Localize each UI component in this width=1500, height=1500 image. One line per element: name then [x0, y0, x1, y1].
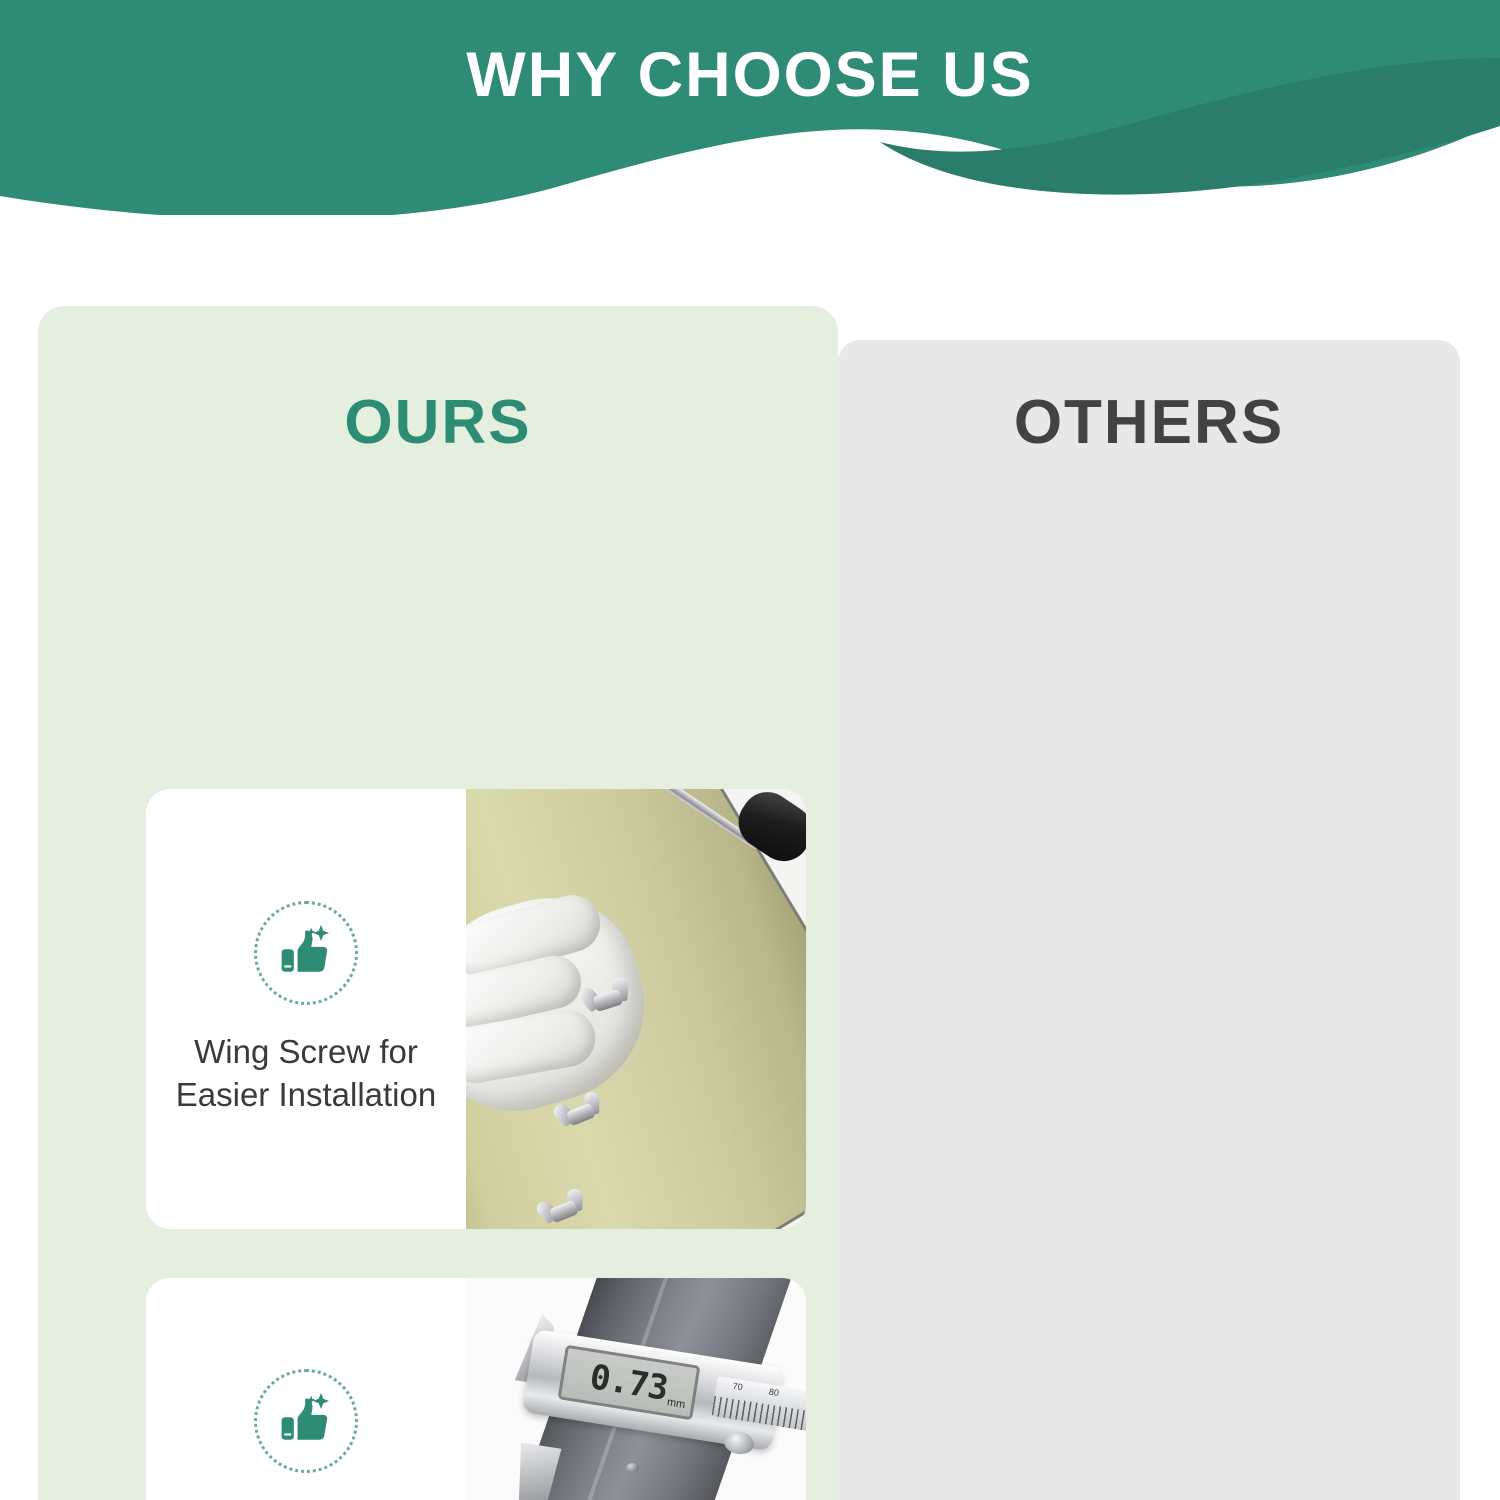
ours-card-2-content: 0.7MM Thickened Galvanized Steel Sheet [146, 1278, 466, 1500]
ours-panel: OURS Wing Screw for Easier Installation [38, 306, 838, 1500]
ours-heading: OURS [38, 392, 838, 454]
scale-number: 70 [732, 1380, 743, 1391]
thumbs-up-icon [254, 1369, 358, 1473]
thumbs-up-icon [254, 901, 358, 1005]
ours-card-1-content: Wing Screw for Easier Installation [146, 789, 466, 1229]
others-heading: OTHERS [838, 392, 1460, 454]
scale-number: 80 [768, 1386, 779, 1397]
caliper-reading: 0.73 [587, 1357, 670, 1409]
ours-card-1-caption: Wing Screw for Easier Installation [176, 1031, 436, 1117]
header-banner: WHY CHOOSE US [0, 0, 1500, 215]
thumbs-up-glyph [276, 1391, 336, 1451]
others-panel: OTHERS Not Easy to Install [838, 340, 1460, 1500]
page-title: WHY CHOOSE US [0, 44, 1500, 107]
ours-card-wing-screw: Wing Screw for Easier Installation [146, 789, 806, 1229]
caliper-measuring-thickness-photo: 70 80 0.73 mm [466, 1278, 806, 1500]
wing-screw-installation-photo [466, 789, 806, 1229]
pipe-rivet [626, 1463, 639, 1472]
why-choose-us-infographic: WHY CHOOSE US OURS Wing Screw for Easier… [0, 0, 1500, 1500]
ours-card-steel-sheet: 0.7MM Thickened Galvanized Steel Sheet 7… [146, 1278, 806, 1500]
caliper-unit: mm [666, 1396, 686, 1411]
thumbs-up-glyph [276, 923, 336, 983]
